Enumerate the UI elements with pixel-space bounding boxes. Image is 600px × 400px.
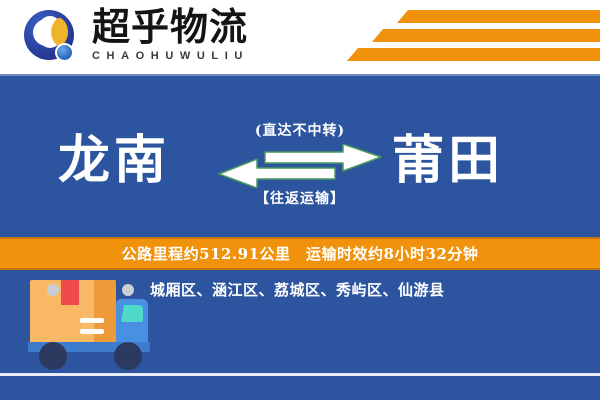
poster-body-panel: 龙南 (直达不中转) 【往返运输】 莆田 公路里程约512.91公里 运输时效约… [0, 74, 600, 400]
orange-speed-stripes-icon [340, 8, 600, 68]
distance-duration-bar: 公路里程约512.91公里 运输时效约8小时32分钟 [0, 237, 600, 270]
truck-stripe-2-shape [80, 329, 104, 334]
truck-front-hub-shape [122, 284, 134, 296]
bidirectional-arrow-icon [215, 144, 385, 188]
stripe-1 [397, 10, 600, 23]
distance-duration-text: 公路里程约512.91公里 运输时效约8小时32分钟 [122, 243, 479, 264]
truck-red-label-shape [61, 280, 79, 305]
poster-header: 超乎物流 CHAOHUWULIU [0, 0, 600, 74]
truck-rear-hub-shape [47, 284, 59, 296]
logo-small-dot-shape [55, 43, 74, 62]
route-note-top: (直达不中转) [210, 122, 390, 140]
truck-cargo-box-shade-shape [94, 280, 116, 344]
truck-window-shape [121, 305, 143, 322]
stripe-2 [372, 29, 600, 42]
logistics-route-poster: 超乎物流 CHAOHUWULIU 龙南 (直达不中转) [0, 0, 600, 400]
brand-name-cn: 超乎物流 [92, 6, 249, 48]
truck-rear-wheel-shape [39, 342, 67, 370]
route-note-bottom: 【往返运输】 [210, 190, 390, 208]
delivery-truck-icon [22, 276, 168, 373]
route-middle-block: (直达不中转) 【往返运输】 [210, 122, 390, 232]
destination-city-label: 莆田 [392, 130, 504, 192]
brand-name-en: CHAOHUWULIU [92, 50, 249, 63]
route-row: 龙南 (直达不中转) 【往返运输】 莆田 [0, 122, 600, 232]
coverage-districts-text: 城厢区、涵江区、荔城区、秀屿区、仙游县 [150, 279, 580, 300]
bottom-divider-line [0, 373, 600, 376]
origin-city-label: 龙南 [58, 130, 170, 192]
truck-front-wheel-shape [114, 342, 142, 370]
stripe-3 [347, 48, 600, 61]
chaohu-circle-logo-icon [24, 10, 80, 66]
truck-stripe-1-shape [80, 318, 104, 323]
panel-top-edge-divider [0, 74, 600, 76]
brand-block: 超乎物流 CHAOHUWULIU [92, 6, 249, 63]
